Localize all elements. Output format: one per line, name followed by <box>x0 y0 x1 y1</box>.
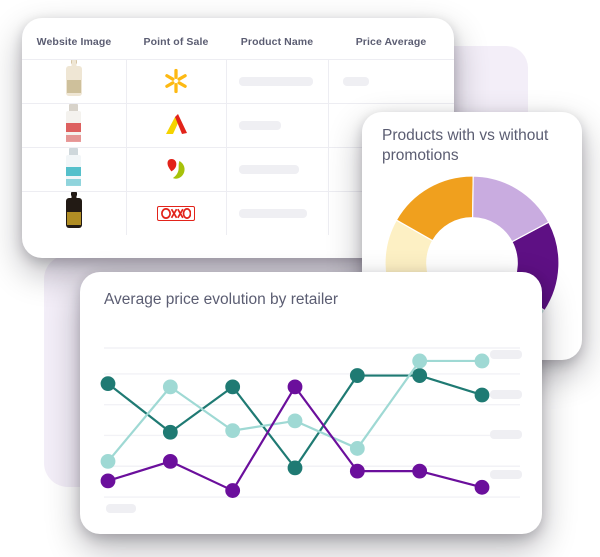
chedraui-logo-icon <box>159 108 193 142</box>
line-data-point[interactable] <box>288 379 303 394</box>
cell-product-name <box>226 60 328 104</box>
cell-point-of-sale <box>126 148 226 192</box>
price-evolution-card: Average price evolution by retailer <box>80 272 542 534</box>
cell-website-image <box>22 60 126 104</box>
cell-website-image <box>22 192 126 236</box>
line-data-point[interactable] <box>101 473 116 488</box>
table-header: Website Image Point of Sale Product Name… <box>22 18 454 60</box>
product-name-skeleton <box>239 121 281 130</box>
y-axis-label-skeleton <box>490 390 522 399</box>
line-data-point[interactable] <box>350 464 365 479</box>
line-data-point[interactable] <box>288 414 303 429</box>
cell-product-name <box>226 192 328 236</box>
column-header-website-image: Website Image <box>22 18 126 60</box>
line-data-point[interactable] <box>350 368 365 383</box>
cell-point-of-sale <box>126 104 226 148</box>
line-data-point[interactable] <box>412 464 427 479</box>
cell-price-average <box>328 60 454 104</box>
x-axis-label-skeleton <box>106 504 136 513</box>
line-data-point[interactable] <box>475 480 490 495</box>
line-data-point[interactable] <box>101 454 116 469</box>
product-name-skeleton <box>239 209 307 218</box>
column-header-price-average: Price Average <box>328 18 454 60</box>
cell-point-of-sale <box>126 192 226 236</box>
line-chart-title: Average price evolution by retailer <box>104 290 354 311</box>
line-data-point[interactable] <box>101 376 116 391</box>
table-header-row: Website Image Point of Sale Product Name… <box>22 18 454 60</box>
y-axis-label-skeleton <box>490 430 522 439</box>
table-row[interactable] <box>22 60 454 104</box>
line-data-point[interactable] <box>412 354 427 369</box>
line-chart-svg <box>96 342 526 522</box>
line-data-point[interactable] <box>225 423 240 438</box>
y-axis-label-skeleton <box>490 350 522 359</box>
line-data-point[interactable] <box>163 425 178 440</box>
product-thumbnail <box>66 60 82 98</box>
soriana-logo-icon <box>159 152 193 186</box>
dashboard-mockup: Website Image Point of Sale Product Name… <box>0 0 600 557</box>
product-thumbnail <box>66 104 81 142</box>
price-skeleton <box>343 77 369 86</box>
donut-chart-title: Products with vs without promotions <box>382 126 568 167</box>
product-name-skeleton <box>239 77 313 86</box>
line-data-point[interactable] <box>475 388 490 403</box>
line-data-point[interactable] <box>163 454 178 469</box>
walmart-logo-icon <box>159 64 193 98</box>
line-data-point[interactable] <box>225 379 240 394</box>
cell-point-of-sale <box>126 60 226 104</box>
line-data-point[interactable] <box>163 379 178 394</box>
cell-website-image <box>22 104 126 148</box>
product-name-skeleton <box>239 165 299 174</box>
cell-website-image <box>22 148 126 192</box>
column-header-point-of-sale: Point of Sale <box>126 18 226 60</box>
cell-product-name <box>226 104 328 148</box>
line-data-point[interactable] <box>225 483 240 498</box>
line-data-point[interactable] <box>412 368 427 383</box>
line-data-point[interactable] <box>288 460 303 475</box>
line-data-point[interactable] <box>475 354 490 369</box>
product-thumbnail <box>66 148 81 186</box>
line-chart <box>96 342 526 522</box>
cell-product-name <box>226 148 328 192</box>
column-header-product-name: Product Name <box>226 18 328 60</box>
oxxo-logo-icon <box>159 197 193 231</box>
product-thumbnail <box>66 192 82 230</box>
line-data-point[interactable] <box>350 441 365 456</box>
y-axis-label-skeleton <box>490 470 522 479</box>
